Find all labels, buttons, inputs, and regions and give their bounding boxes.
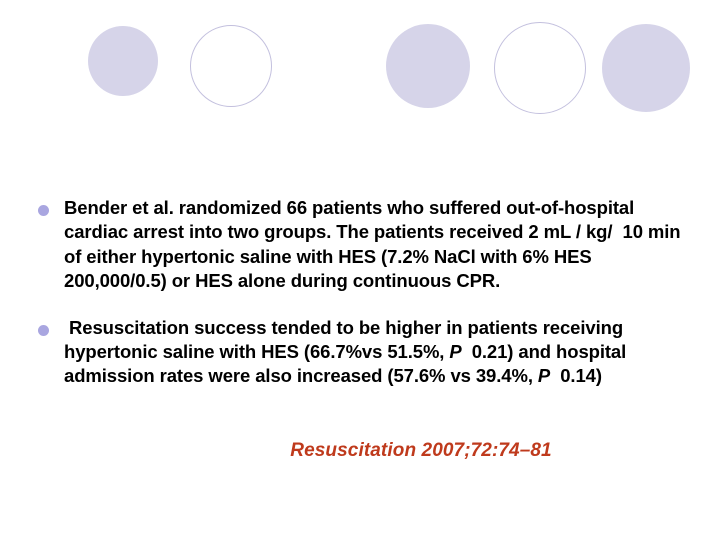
- slide-body: Bender et al. randomized 66 patients who…: [38, 196, 686, 411]
- bullet-text-1: Bender et al. randomized 66 patients who…: [64, 196, 686, 294]
- bullet-text-run: 0.14): [550, 365, 602, 386]
- top-decorative-circles: [0, 0, 720, 120]
- decor-circle-3: [386, 24, 470, 108]
- bullet-item: Bender et al. randomized 66 patients who…: [38, 196, 686, 294]
- citation-row: Resuscitation 2007;72:74–81: [38, 440, 686, 462]
- bullet-dot-icon: [38, 205, 49, 216]
- bullet-text-run: Bender et al. randomized 66 patients who…: [64, 197, 686, 291]
- decor-circle-5: [602, 24, 690, 112]
- bullet-text-2: Resuscitation success tended to be highe…: [64, 316, 686, 389]
- decor-circle-1: [88, 26, 158, 96]
- p-value-symbol: P: [538, 365, 550, 386]
- p-value-symbol: P: [449, 341, 461, 362]
- bullet-dot-icon: [38, 325, 49, 336]
- bullet-item: Resuscitation success tended to be highe…: [38, 316, 686, 389]
- decor-circle-4: [494, 22, 586, 114]
- decor-circle-2: [190, 25, 272, 107]
- source-citation: Resuscitation 2007;72:74–81: [290, 440, 551, 462]
- slide-canvas: Bender et al. randomized 66 patients who…: [0, 0, 720, 540]
